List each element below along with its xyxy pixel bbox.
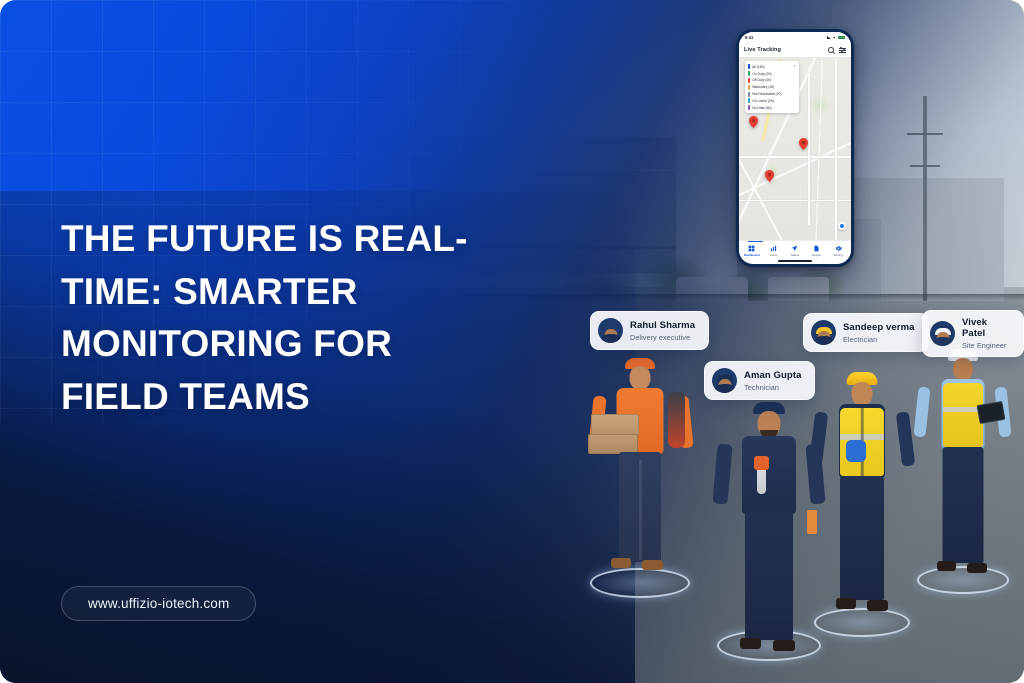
worker-ground-ring bbox=[590, 568, 690, 598]
backpack bbox=[668, 392, 685, 448]
worker-name: Rahul Sharma bbox=[630, 320, 695, 331]
worker-arm-left bbox=[809, 411, 828, 466]
worker-card-text: Aman Gupta Technician bbox=[744, 370, 801, 392]
worker-card-sandeep-verma[interactable]: Sandeep verma Electrician bbox=[803, 313, 929, 352]
tab-setting[interactable]: Setting bbox=[827, 245, 849, 257]
legend-label: No Data (50) bbox=[752, 106, 771, 110]
status-filter-legend[interactable]: ✕ All (150) On Duty (20) Off Duty (20) bbox=[745, 61, 799, 113]
worker-ground-ring bbox=[814, 608, 910, 637]
wifi-icon: ✦ bbox=[833, 36, 837, 39]
worker-arm-left bbox=[712, 443, 732, 504]
legend-label: All (150) bbox=[752, 65, 765, 69]
map-pin-3[interactable] bbox=[765, 170, 774, 182]
worker-figure-technician bbox=[713, 398, 825, 683]
tool-grip bbox=[754, 456, 769, 470]
map-pin-1[interactable] bbox=[749, 116, 758, 128]
legend-item[interactable]: No Data (50) bbox=[748, 104, 796, 111]
website-url-text: www.uffizio-iotech.com bbox=[88, 596, 229, 611]
tab-label: Status bbox=[791, 253, 799, 257]
worker-arm-left bbox=[913, 387, 930, 438]
map-road bbox=[835, 58, 837, 240]
worker-figure-delivery bbox=[585, 352, 695, 602]
legend-color-swatch bbox=[748, 105, 750, 110]
map-pin-2[interactable] bbox=[799, 138, 808, 150]
worker-ground-ring bbox=[917, 566, 1009, 594]
worker-card-text: Rahul Sharma Delivery executive bbox=[630, 320, 695, 342]
legend-color-swatch bbox=[748, 64, 750, 69]
legend-item[interactable]: Off Duty (20) bbox=[748, 77, 796, 84]
worker-card-rahul-sharma[interactable]: Rahul Sharma Delivery executive bbox=[590, 311, 709, 350]
parcel-box-lower bbox=[588, 434, 638, 454]
leg-separation bbox=[639, 460, 642, 560]
legend-item[interactable]: Stationary (15) bbox=[748, 84, 796, 91]
worker-shoe-right bbox=[867, 600, 888, 611]
dashboard-icon bbox=[748, 245, 755, 252]
phone-mockup: 6:41 ✦ Live Tracking bbox=[736, 29, 854, 267]
tab-label: Setting bbox=[834, 253, 843, 257]
legend-label: Off Duty (20) bbox=[752, 78, 771, 82]
worker-legs bbox=[745, 512, 793, 640]
app-title: Live Tracking bbox=[744, 47, 781, 53]
marketing-banner: THE FUTURE IS REAL-TIME: SMARTER MONITOR… bbox=[0, 0, 1024, 683]
tab-label: Track bbox=[770, 253, 777, 257]
phone-screen: 6:41 ✦ Live Tracking bbox=[739, 32, 851, 264]
worker-name: Aman Gupta bbox=[744, 370, 801, 381]
worker-figure-electrician bbox=[812, 368, 912, 643]
legend-color-swatch bbox=[748, 92, 750, 97]
worker-legs bbox=[942, 447, 983, 563]
legend-label: On Leave (25) bbox=[752, 99, 774, 103]
worker-shoe-left bbox=[836, 598, 856, 609]
avatar bbox=[712, 368, 737, 393]
worker-card-vivek-patel[interactable]: Vivek Patel Site Engineer bbox=[922, 310, 1024, 357]
legend-color-swatch bbox=[748, 71, 750, 76]
chart-icon bbox=[770, 245, 777, 252]
legend-color-swatch bbox=[748, 78, 750, 83]
worker-role: Delivery executive bbox=[630, 333, 695, 342]
worker-shoe-left bbox=[937, 561, 956, 571]
avatar bbox=[930, 321, 955, 346]
worker-card-text: Sandeep verma Electrician bbox=[843, 322, 915, 344]
legend-label: On Duty (20) bbox=[752, 72, 771, 76]
active-tab-indicator bbox=[748, 241, 763, 242]
worker-head bbox=[852, 382, 873, 406]
phone-tab-bar[interactable]: Dashboard Track Status Report Setting bbox=[739, 240, 851, 264]
signal-icon bbox=[827, 36, 831, 39]
worker-torso bbox=[742, 436, 796, 514]
document-icon bbox=[813, 245, 820, 252]
filter-icon[interactable] bbox=[839, 47, 846, 54]
legend-label: Stationary (15) bbox=[752, 85, 774, 89]
map-road bbox=[739, 200, 851, 201]
tab-dashboard[interactable]: Dashboard bbox=[741, 245, 763, 257]
status-time: 6:41 bbox=[745, 35, 753, 40]
legend-color-swatch bbox=[748, 98, 750, 103]
avatar-body bbox=[812, 336, 836, 345]
legend-label: Not Reachable (20) bbox=[752, 92, 781, 96]
worker-shoe-left bbox=[740, 638, 761, 649]
hi-vis-vest bbox=[943, 383, 983, 447]
map-road bbox=[739, 156, 851, 158]
legend-item[interactable]: On Duty (20) bbox=[748, 70, 796, 77]
safety-gloves bbox=[846, 440, 866, 462]
phone-status-bar: 6:41 ✦ bbox=[739, 32, 851, 43]
tab-track[interactable]: Track bbox=[763, 245, 785, 257]
worker-card-text: Vivek Patel Site Engineer bbox=[962, 317, 1010, 350]
worker-role: Site Engineer bbox=[962, 341, 1010, 350]
worker-name: Sandeep verma bbox=[843, 322, 915, 333]
tab-label: Report bbox=[812, 253, 821, 257]
worker-shoe-right bbox=[967, 563, 987, 573]
close-icon[interactable]: ✕ bbox=[793, 64, 796, 68]
worker-card-aman-gupta[interactable]: Aman Gupta Technician bbox=[704, 361, 815, 400]
website-url-pill[interactable]: www.uffizio-iotech.com bbox=[61, 586, 256, 621]
worker-role: Technician bbox=[744, 383, 801, 392]
avatar bbox=[811, 320, 836, 345]
legend-item[interactable]: On Leave (25) bbox=[748, 97, 796, 104]
legend-color-swatch bbox=[748, 85, 750, 90]
tab-label: Dashboard bbox=[744, 253, 760, 257]
avatar-body bbox=[599, 334, 623, 343]
worker-shoe-left bbox=[611, 558, 631, 568]
legend-item[interactable]: All (150) bbox=[748, 64, 796, 71]
worker-legs bbox=[840, 476, 884, 600]
legend-item[interactable]: Not Reachable (20) bbox=[748, 91, 796, 98]
worker-shoe-right bbox=[773, 640, 795, 651]
parcel-box-upper bbox=[591, 414, 639, 435]
phone-app-bar: Live Tracking bbox=[739, 43, 851, 58]
worker-shoe-right bbox=[642, 560, 663, 570]
gear-icon bbox=[835, 245, 842, 252]
worker-name: Vivek Patel bbox=[962, 317, 1010, 339]
app-bar-actions bbox=[828, 47, 846, 54]
navigate-icon bbox=[791, 245, 798, 252]
home-indicator bbox=[778, 260, 812, 262]
worker-head bbox=[953, 358, 973, 381]
worker-figure-site-engineer bbox=[915, 345, 1010, 600]
search-icon[interactable] bbox=[828, 47, 834, 53]
battery-icon bbox=[838, 36, 845, 40]
avatar-body bbox=[931, 337, 955, 346]
worker-head bbox=[630, 366, 651, 390]
avatar-body bbox=[713, 384, 737, 393]
page-title: THE FUTURE IS REAL-TIME: SMARTER MONITOR… bbox=[61, 213, 491, 423]
worker-role: Electrician bbox=[843, 335, 915, 344]
locate-icon[interactable] bbox=[838, 222, 846, 230]
avatar bbox=[598, 318, 623, 343]
map-view[interactable]: ✕ All (150) On Duty (20) Off Duty (20) bbox=[739, 58, 851, 240]
map-road bbox=[808, 73, 810, 226]
tab-status[interactable]: Status bbox=[784, 245, 806, 257]
status-icon-group: ✦ bbox=[827, 36, 845, 40]
tab-report[interactable]: Report bbox=[806, 245, 828, 257]
